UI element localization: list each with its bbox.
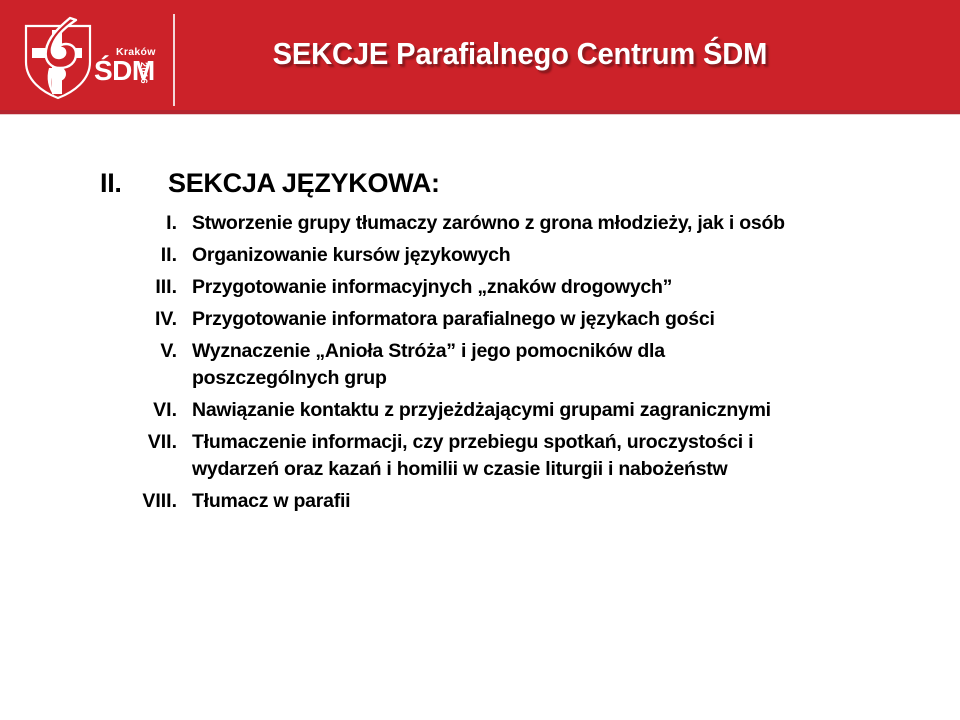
list-item-numeral: II. [100, 242, 192, 269]
list-item-text: Wyznaczenie „Anioła Stróża” i jego pomoc… [192, 338, 900, 392]
list-item: IV.Przygotowanie informatora parafialneg… [100, 306, 900, 333]
list-item-numeral: VII. [100, 429, 192, 456]
list-item: VIII.Tłumacz w parafii [100, 488, 900, 515]
page-title: SEKCJE Parafialnego Centrum ŚDM [29, 36, 931, 72]
section-heading: II.SEKCJA JĘZYKOWA: [100, 168, 440, 199]
list-item-text: Stworzenie grupy tłumaczy zarówno z gron… [192, 210, 900, 237]
list-item-line: Tłumacz w parafii [192, 488, 900, 515]
list-item-numeral: VIII. [100, 488, 192, 515]
list-item: II.Organizowanie kursów językowych [100, 242, 900, 269]
list-item-line: Tłumaczenie informacji, czy przebiegu sp… [192, 429, 900, 456]
list-item: III.Przygotowanie informacyjnych „znaków… [100, 274, 900, 301]
list-item-line: Stworzenie grupy tłumaczy zarówno z gron… [192, 210, 900, 237]
list-item-line: Organizowanie kursów językowych [192, 242, 900, 269]
list-item-line: Przygotowanie informatora parafialnego w… [192, 306, 900, 333]
items-list: I.Stworzenie grupy tłumaczy zarówno z gr… [100, 210, 900, 520]
list-item: V.Wyznaczenie „Anioła Stróża” i jego pom… [100, 338, 900, 392]
section-heading-text: SEKCJA JĘZYKOWA: [168, 168, 440, 198]
list-item-numeral: IV. [100, 306, 192, 333]
list-item-numeral: III. [100, 274, 192, 301]
list-item: I.Stworzenie grupy tłumaczy zarówno z gr… [100, 210, 900, 237]
list-item-numeral: V. [100, 338, 192, 365]
list-item-line: Przygotowanie informacyjnych „znaków dro… [192, 274, 900, 301]
list-item-numeral: I. [100, 210, 192, 237]
list-item-line: wydarzeń oraz kazań i homilii w czasie l… [192, 456, 900, 483]
header-banner: Kraków ŚDM 2016 SEKCJE Parafialnego Cent… [0, 0, 960, 110]
list-item-text: Przygotowanie informatora parafialnego w… [192, 306, 900, 333]
list-item-text: Tłumaczenie informacji, czy przebiegu sp… [192, 429, 900, 483]
list-item-line: Nawiązanie kontaktu z przyjeżdżającymi g… [192, 397, 900, 424]
list-item-text: Przygotowanie informacyjnych „znaków dro… [192, 274, 900, 301]
list-item: VII.Tłumaczenie informacji, czy przebieg… [100, 429, 900, 483]
slide-body: II.SEKCJA JĘZYKOWA: I.Stworzenie grupy t… [0, 115, 960, 720]
section-heading-numeral: II. [100, 168, 168, 199]
list-item-text: Organizowanie kursów językowych [192, 242, 900, 269]
list-item-line: Wyznaczenie „Anioła Stróża” i jego pomoc… [192, 338, 900, 365]
list-item-line: poszczególnych grup [192, 365, 900, 392]
list-item-text: Tłumacz w parafii [192, 488, 900, 515]
list-item-text: Nawiązanie kontaktu z przyjeżdżającymi g… [192, 397, 900, 424]
list-item-numeral: VI. [100, 397, 192, 424]
list-item: VI.Nawiązanie kontaktu z przyjeżdżającym… [100, 397, 900, 424]
